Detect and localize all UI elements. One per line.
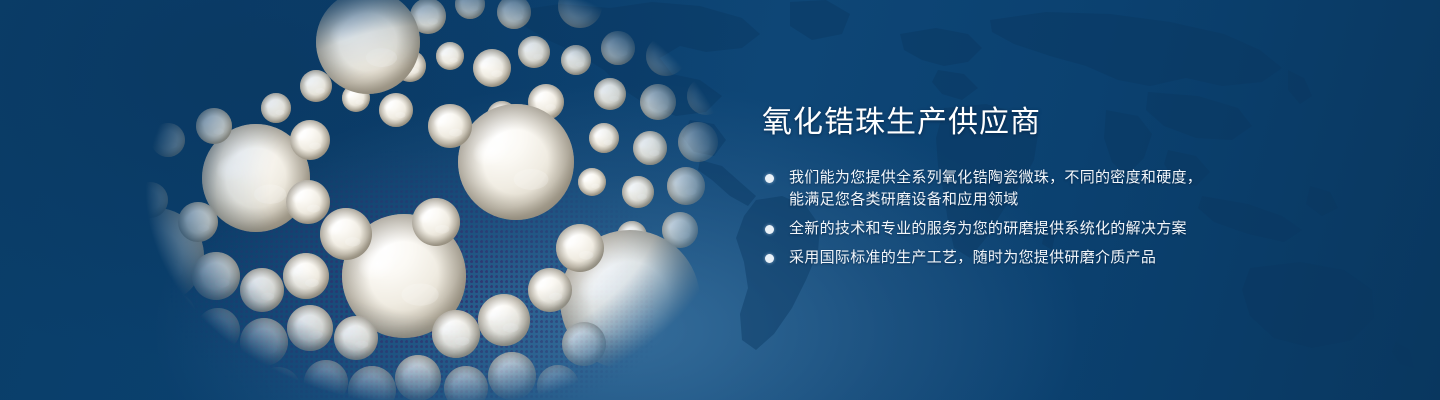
bullet-dot-icon bbox=[765, 174, 774, 183]
zirconia-beads-photo bbox=[110, 0, 720, 400]
bullet-line: 能满足您各类研磨设备和应用领域 bbox=[789, 189, 1362, 211]
bullet-dot-icon bbox=[765, 225, 774, 234]
hero-banner: 氧化锆珠生产供应商 我们能为您提供全系列氧化锆陶瓷微珠，不同的密度和硬度， 能满… bbox=[0, 0, 1440, 400]
bullet-line: 全新的技术和专业的服务为您的研磨提供系统化的解决方案 bbox=[789, 218, 1362, 240]
banner-text-block: 氧化锆珠生产供应商 我们能为您提供全系列氧化锆陶瓷微珠，不同的密度和硬度， 能满… bbox=[762, 106, 1362, 269]
bullet-line: 采用国际标准的生产工艺，随时为您提供研磨介质产品 bbox=[789, 247, 1362, 269]
list-item: 采用国际标准的生产工艺，随时为您提供研磨介质产品 bbox=[762, 247, 1362, 269]
bullet-dot-icon bbox=[765, 254, 774, 263]
feature-bullet-list: 我们能为您提供全系列氧化锆陶瓷微珠，不同的密度和硬度， 能满足您各类研磨设备和应… bbox=[762, 167, 1362, 269]
list-item: 全新的技术和专业的服务为您的研磨提供系统化的解决方案 bbox=[762, 218, 1362, 240]
list-item: 我们能为您提供全系列氧化锆陶瓷微珠，不同的密度和硬度， 能满足您各类研磨设备和应… bbox=[762, 167, 1362, 211]
bullet-line: 我们能为您提供全系列氧化锆陶瓷微珠，不同的密度和硬度， bbox=[789, 167, 1362, 189]
page-title: 氧化锆珠生产供应商 bbox=[762, 106, 1362, 141]
